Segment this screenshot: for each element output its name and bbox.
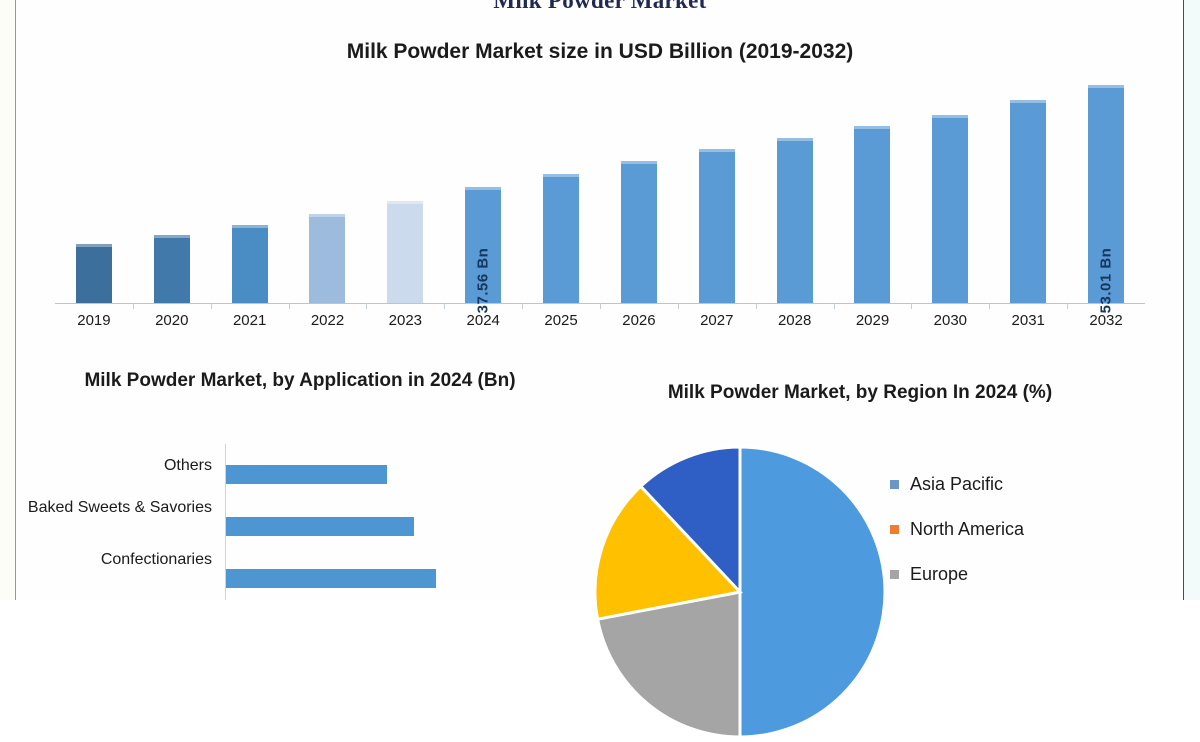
bar-top-highlight (543, 174, 579, 177)
bar-2025[interactable] (543, 174, 579, 303)
bar-slot (366, 62, 444, 303)
x-axis-tick (133, 303, 134, 309)
application-category-label: Baked Sweets & Savories (0, 498, 212, 518)
bar-slot (600, 62, 678, 303)
bar-slot (989, 62, 1067, 303)
bar-top-highlight (777, 138, 813, 141)
bar-value-label-2032: 53.01 Bn (1098, 248, 1115, 314)
x-tick-label-2020: 2020 (132, 312, 212, 329)
x-tick-label-2021: 2021 (210, 312, 290, 329)
bar-2023[interactable] (387, 201, 423, 303)
report-main-title: Milk Powder Market (0, 0, 1200, 14)
x-axis-tick (366, 303, 367, 309)
bar-slot (678, 62, 756, 303)
application-bar[interactable] (226, 465, 387, 484)
bar-top-highlight (465, 187, 501, 190)
bar-top-highlight (699, 149, 735, 152)
application-category-label: Others (0, 456, 212, 476)
bar-top-highlight (154, 235, 190, 238)
x-tick-label-2027: 2027 (677, 312, 757, 329)
region-pie-wrap (590, 442, 890, 602)
legend-swatch-icon (890, 525, 899, 534)
x-tick-label-2032: 2032 (1066, 312, 1146, 329)
x-axis-tick (989, 303, 990, 309)
application-row: Confectionaries (20, 548, 580, 600)
bar-2024[interactable]: 37.56 Bn (465, 187, 501, 303)
application-bar[interactable] (226, 517, 414, 536)
x-axis-tick (444, 303, 445, 309)
bar-top-highlight (309, 214, 345, 217)
region-chart-title: Milk Powder Market, by Region In 2024 (%… (610, 380, 1110, 406)
bar-2031[interactable] (1010, 100, 1046, 303)
x-axis-tick (834, 303, 835, 309)
bar-slot (211, 62, 289, 303)
x-axis-tick (289, 303, 290, 309)
application-bar[interactable] (226, 569, 436, 588)
legend-item[interactable]: Europe (890, 552, 1170, 597)
application-plot-area: OthersBaked Sweets & SavoriesConfectiona… (20, 444, 580, 600)
bar-slot (834, 62, 912, 303)
legend-swatch-icon (890, 480, 899, 489)
bar-top-highlight (1010, 100, 1046, 103)
bar-2021[interactable] (232, 225, 268, 303)
x-tick-label-2030: 2030 (910, 312, 990, 329)
x-axis-tick (211, 303, 212, 309)
x-tick-label-2028: 2028 (755, 312, 835, 329)
bar-2028[interactable] (777, 138, 813, 303)
region-pie-chart (590, 442, 890, 742)
legend-label: North America (910, 519, 1024, 540)
bar-top-highlight (1088, 85, 1124, 88)
right-margin-tint (1184, 0, 1200, 600)
x-axis-tick (756, 303, 757, 309)
application-chart-panel: Milk Powder Market, by Application in 20… (20, 368, 590, 600)
x-tick-label-2031: 2031 (988, 312, 1068, 329)
application-chart-title: Milk Powder Market, by Application in 20… (20, 368, 580, 394)
x-axis-tick (1067, 303, 1068, 309)
legend-label: Asia Pacific (910, 474, 1003, 495)
bar-2027[interactable] (699, 149, 735, 303)
bar-value-label-2024: 37.56 Bn (475, 248, 492, 314)
x-tick-label-2029: 2029 (833, 312, 913, 329)
bar-slot: 37.56 Bn (444, 62, 522, 303)
right-border-rule (1183, 0, 1184, 600)
bar-slot (522, 62, 600, 303)
bar-2020[interactable] (154, 235, 190, 303)
bar-2029[interactable] (854, 126, 890, 303)
bar-slot: 53.01 Bn (1067, 62, 1145, 303)
legend-label: Europe (910, 564, 968, 585)
region-pie-legend: Asia PacificNorth AmericaEurope (890, 462, 1170, 597)
bar-slot (756, 62, 834, 303)
x-tick-label-2025: 2025 (521, 312, 601, 329)
market-size-bar-chart: 37.56 Bn53.01 Bn 20192020202120222023202… (55, 62, 1145, 307)
bar-top-highlight (932, 115, 968, 118)
x-tick-label-2022: 2022 (288, 312, 368, 329)
bar-top-highlight (232, 225, 268, 228)
x-tick-label-2019: 2019 (54, 312, 134, 329)
bar-2032[interactable]: 53.01 Bn (1088, 85, 1124, 303)
legend-item[interactable]: Asia Pacific (890, 462, 1170, 507)
bar-2026[interactable] (621, 161, 657, 303)
bar-top-highlight (621, 161, 657, 164)
application-row: Baked Sweets & Savories (20, 496, 580, 548)
bar-slot (55, 62, 133, 303)
bar-top-highlight (76, 244, 112, 247)
x-axis-tick (600, 303, 601, 309)
bar-top-highlight (854, 126, 890, 129)
infographic-canvas: Milk Powder Market Milk Powder Market si… (0, 0, 1200, 600)
pie-slice-1[interactable] (740, 447, 885, 737)
bar-slot (133, 62, 211, 303)
bar-2030[interactable] (932, 115, 968, 303)
x-tick-label-2024: 2024 (443, 312, 523, 329)
bar-top-highlight (387, 201, 423, 204)
legend-swatch-icon (890, 570, 899, 579)
bar-chart-title: Milk Powder Market size in USD Billion (… (0, 40, 1200, 64)
bar-slot (911, 62, 989, 303)
x-axis-tick (678, 303, 679, 309)
application-row: Others (20, 444, 580, 496)
bar-2019[interactable] (76, 244, 112, 303)
x-axis-tick (522, 303, 523, 309)
x-axis-tick (911, 303, 912, 309)
bar-2022[interactable] (309, 214, 345, 303)
region-chart-panel: Milk Powder Market, by Region In 2024 (%… (600, 380, 1180, 600)
application-category-label: Confectionaries (0, 550, 212, 570)
x-tick-label-2026: 2026 (599, 312, 679, 329)
bar-slot (289, 62, 367, 303)
bar-plot-area: 37.56 Bn53.01 Bn (55, 62, 1145, 303)
x-tick-label-2023: 2023 (365, 312, 445, 329)
legend-item[interactable]: North America (890, 507, 1170, 552)
